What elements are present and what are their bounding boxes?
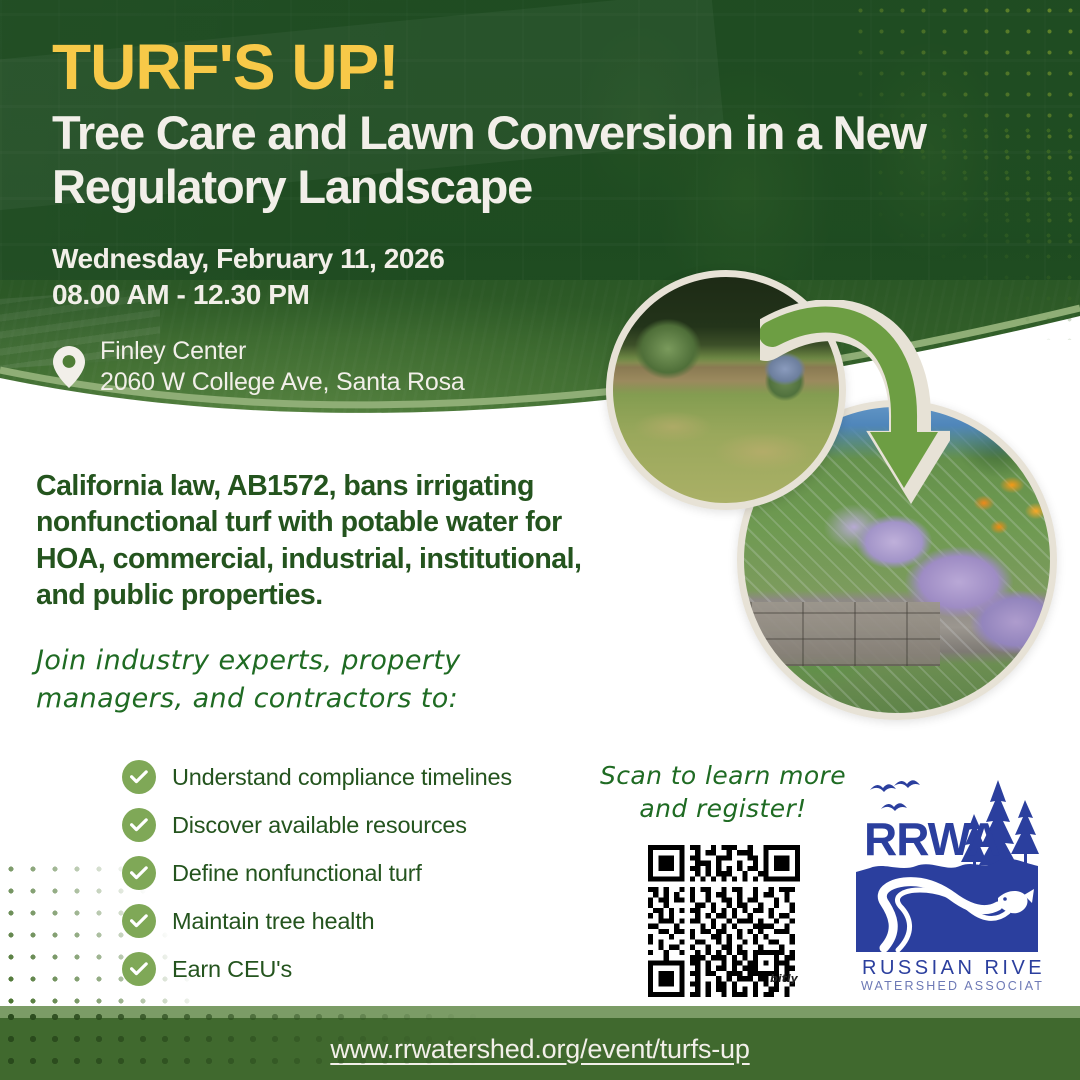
benefits-checklist: Understand compliance timelines Discover…: [122, 760, 512, 1000]
check-circle-icon: [122, 808, 156, 842]
scan-caption: Scan to learn more and register!: [588, 760, 858, 825]
body-content: California law, AB1572, bans irrigating …: [36, 468, 616, 719]
stone-wall: [750, 602, 940, 666]
event-url-link[interactable]: www.rrwatershed.org/event/turfs-up: [330, 1034, 749, 1065]
venue-details: Finley Center 2060 W College Ave, Santa …: [100, 336, 465, 398]
logo-subtitle: WATERSHED ASSOCIATION: [861, 979, 1044, 993]
list-item: Earn CEU's: [122, 952, 512, 986]
birds-icon: [870, 780, 920, 811]
check-circle-icon: [122, 760, 156, 794]
checklist-label: Define nonfunctional turf: [172, 860, 422, 887]
list-item: Define nonfunctional turf: [122, 856, 512, 890]
list-item: Discover available resources: [122, 808, 512, 842]
curved-arrow-icon: [760, 300, 950, 530]
list-item: Understand compliance timelines: [122, 760, 512, 794]
logo-name: RUSSIAN RIVER: [862, 957, 1044, 979]
scan-caption-line2: and register!: [588, 793, 858, 826]
law-statement: California law, AB1572, bans irrigating …: [36, 468, 616, 614]
event-date: Wednesday, February 11, 2026: [52, 241, 1032, 277]
checklist-label: Earn CEU's: [172, 956, 292, 983]
rrwa-logo: RRWA RUSSIAN RIVER WATERSHED ASSOCIATION: [848, 762, 1044, 994]
checklist-label: Maintain tree health: [172, 908, 374, 935]
venue-name: Finley Center: [100, 336, 465, 367]
footer-accent-strip: [0, 1006, 1080, 1018]
event-flyer: TURF'S UP! Tree Care and Lawn Conversion…: [0, 0, 1080, 1080]
check-circle-icon: [122, 904, 156, 938]
qr-brand-label: bitly: [770, 972, 798, 985]
checklist-label: Understand compliance timelines: [172, 764, 512, 791]
event-kicker: TURF'S UP!: [52, 34, 1032, 102]
check-circle-icon: [122, 856, 156, 890]
invitation-text: Join industry experts, property managers…: [36, 642, 616, 719]
event-title: Tree Care and Lawn Conversion in a New R…: [52, 106, 1002, 215]
list-item: Maintain tree health: [122, 904, 512, 938]
venue-address: 2060 W College Ave, Santa Rosa: [100, 367, 465, 398]
location-pin-icon: [52, 345, 86, 389]
watershed-illustration: [856, 859, 1038, 952]
scan-caption-line1: Scan to learn more: [588, 760, 858, 793]
checklist-label: Discover available resources: [172, 812, 467, 839]
logo-acronym: RRWA: [864, 813, 1000, 865]
footer-bar: www.rrwatershed.org/event/turfs-up: [0, 1018, 1080, 1080]
check-circle-icon: [122, 952, 156, 986]
